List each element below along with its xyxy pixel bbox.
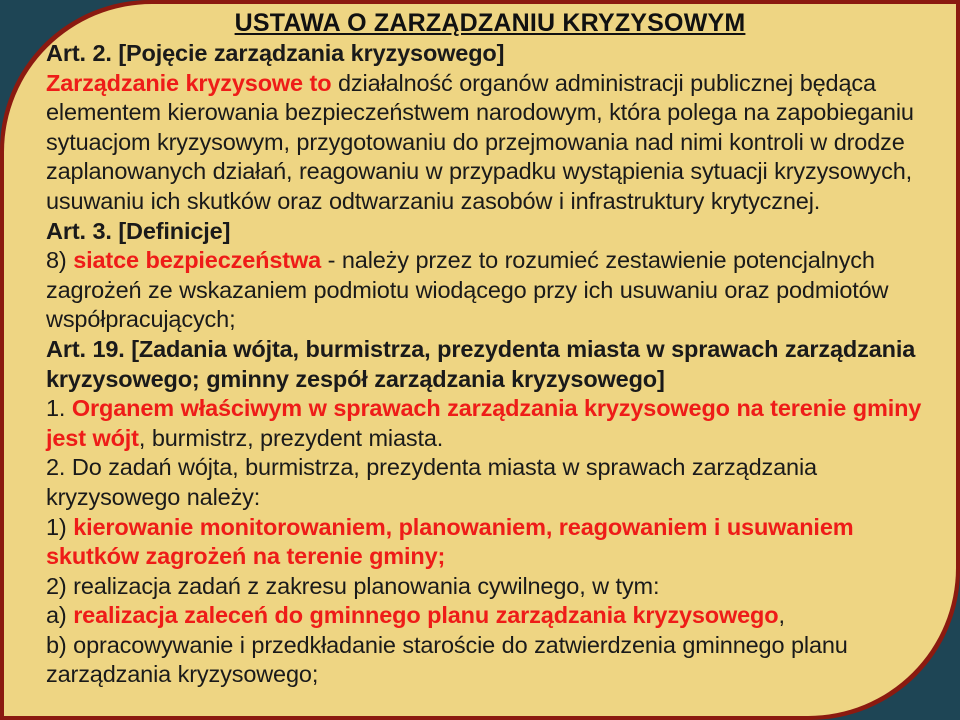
article-3-point-8-highlight: siatce bezpieczeństwa — [73, 247, 321, 273]
slide-content: USTAWA O ZARZĄDZANIU KRYZYSOWYM Art. 2. … — [4, 4, 956, 716]
slide: USTAWA O ZARZĄDZANIU KRYZYSOWYM Art. 2. … — [0, 0, 960, 720]
article-2-body: Zarządzanie kryzysowe to działalność org… — [46, 69, 934, 217]
article-2-lead-highlight: Zarządzanie kryzysowe to — [46, 70, 331, 96]
article-19-item-1-text: ; — [438, 543, 446, 569]
article-19-item-2: 2) realizacja zadań z zakresu planowania… — [46, 572, 934, 602]
article-2-heading: Art. 2. [Pojęcie zarządzania kryzysowego… — [46, 39, 934, 69]
article-19-paragraph-1-text: , burmistrz, prezydent miasta. — [139, 425, 443, 451]
slide-panel: USTAWA O ZARZĄDZANIU KRYZYSOWYM Art. 2. … — [4, 4, 956, 716]
article-19-item-2b: b) opracowywanie i przedkładanie starośc… — [46, 631, 934, 690]
article-19-item-2a-marker: a) — [46, 602, 73, 628]
article-19-item-2a-highlight: realizacja zaleceń do gminnego planu zar… — [73, 602, 778, 628]
article-19-paragraph-2: 2. Do zadań wójta, burmistrza, prezydent… — [46, 453, 934, 512]
article-19-item-1-marker: 1) — [46, 514, 73, 540]
article-19-item-1-highlight: kierowanie monitorowaniem, planowaniem, … — [46, 514, 853, 570]
article-19-paragraph-1: 1. Organem właściwym w sprawach zarządza… — [46, 394, 934, 453]
article-3-point-8: 8) siatce bezpieczeństwa - należy przez … — [46, 246, 934, 335]
article-19-heading: Art. 19. [Zadania wójta, burmistrza, pre… — [46, 335, 934, 394]
article-19-paragraph-1-marker: 1. — [46, 395, 72, 421]
article-19-item-2a: a) realizacja zaleceń do gminnego planu … — [46, 601, 934, 631]
article-19-item-2a-text: , — [778, 602, 784, 628]
article-3-point-8-marker: 8) — [46, 247, 73, 273]
article-3-heading: Art. 3. [Definicje] — [46, 217, 934, 247]
article-19-item-1: 1) kierowanie monitorowaniem, planowanie… — [46, 513, 934, 572]
page-title: USTAWA O ZARZĄDZANIU KRYZYSOWYM — [46, 8, 934, 39]
